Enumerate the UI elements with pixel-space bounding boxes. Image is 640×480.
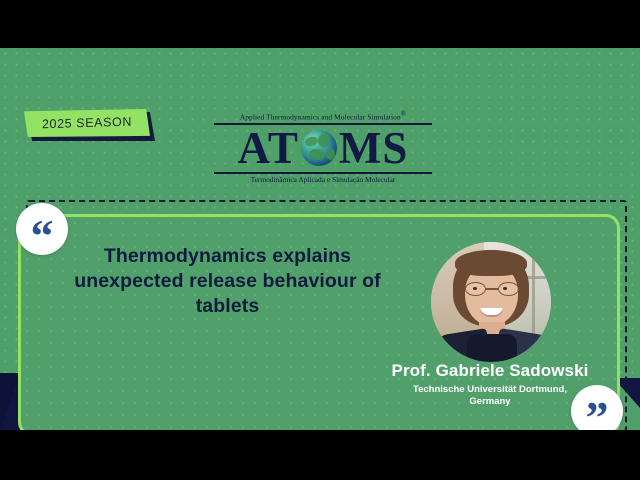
logo-tagline-english-text: Applied Thermodynamics and Molecular Sim… [240,112,401,121]
logo-word-left: AT [238,125,299,171]
portrait-eye-right [503,287,507,290]
globe-icon [301,130,337,166]
atoms-logo: Applied Thermodynamics and Molecular Sim… [214,110,432,184]
title-line-3: tablets [40,294,415,319]
page-title: Thermodynamics explains unexpected relea… [40,244,415,319]
logo-word-right: MS [339,125,409,171]
quote-close-bubble: ” [571,385,623,430]
slide-canvas: 2025 SEASON Applied Thermodynamics and M… [0,48,640,430]
portrait-shirt [467,334,517,362]
portrait-eye-left [473,287,477,290]
portrait-fringe [455,250,527,276]
portrait-lens-right [498,282,519,296]
quote-open-bubble: “ [16,203,68,255]
video-frame: 2025 SEASON Applied Thermodynamics and M… [0,0,640,480]
speaker-name: Prof. Gabriele Sadowski [370,361,610,381]
season-badge-label: 2025 SEASON [42,115,132,132]
registered-trademark-icon: ® [401,110,406,118]
title-line-1: Thermodynamics explains [40,244,415,269]
logo-tagline-portuguese: Termodinâmica Aplicada e Simulação Molec… [214,175,432,184]
logo-tagline-english: Applied Thermodynamics and Molecular Sim… [214,110,432,121]
letterbox-bar-bottom [0,430,640,480]
logo-wordmark: AT MS [214,125,432,171]
portrait-glasses-bridge [486,288,498,290]
speaker-portrait-avatar [431,242,551,362]
title-line-2: unexpected release behaviour of [40,269,415,294]
speaker-affiliation-line-1: Technische Universität Dortmund, [370,384,610,396]
season-badge: 2025 SEASON [24,109,150,137]
letterbox-bar-top [0,0,640,48]
